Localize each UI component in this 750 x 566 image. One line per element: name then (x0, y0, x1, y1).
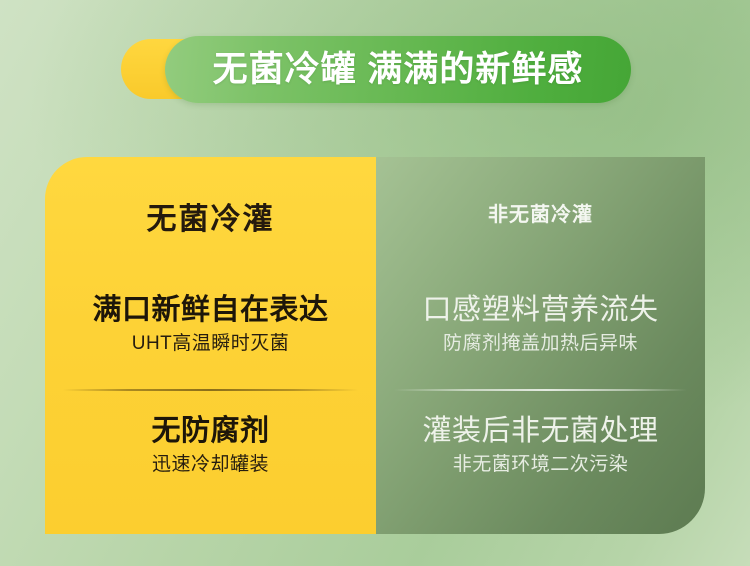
panel-non-aseptic-feature-2: 灌装后非无菌处理 非无菌环境二次污染 (376, 415, 705, 477)
panel-non-aseptic: 非无菌冷灌 口感塑料营养流失 防腐剂掩盖加热后异味 灌装后非无菌处理 非无菌环境… (376, 157, 705, 534)
header-banner: 无菌冷罐 满满的新鲜感 (0, 36, 750, 104)
panel-aseptic-feature-1: 满口新鲜自在表达 UHT高温瞬时灭菌 (45, 294, 376, 356)
promo-page: 无菌冷罐 满满的新鲜感 无菌冷灌 满口新鲜自在表达 UHT高温瞬时灭菌 无防腐剂… (0, 0, 750, 566)
panel-non-aseptic-feature-1: 口感塑料营养流失 防腐剂掩盖加热后异味 (376, 294, 705, 356)
panel-non-aseptic-heading: 非无菌冷灌 (488, 205, 593, 225)
panel-aseptic-heading: 无菌冷灌 (147, 205, 275, 235)
feature-sub-text: UHT高温瞬时灭菌 (45, 333, 376, 356)
feature-main-text: 灌装后非无菌处理 (376, 415, 705, 448)
feature-sub-text: 防腐剂掩盖加热后异味 (376, 333, 705, 356)
feature-main-text: 口感塑料营养流失 (376, 294, 705, 327)
comparison-card: 无菌冷灌 满口新鲜自在表达 UHT高温瞬时灭菌 无防腐剂 迅速冷却罐装 非无菌冷… (45, 157, 705, 534)
feature-sub-text: 迅速冷却罐装 (45, 454, 376, 477)
banner-title: 无菌冷罐 满满的新鲜感 (213, 52, 584, 87)
feature-main-text: 无防腐剂 (45, 415, 376, 448)
panel-aseptic: 无菌冷灌 满口新鲜自在表达 UHT高温瞬时灭菌 无防腐剂 迅速冷却罐装 (45, 157, 376, 534)
panel-aseptic-feature-2: 无防腐剂 迅速冷却罐装 (45, 415, 376, 477)
feature-main-text: 满口新鲜自在表达 (45, 294, 376, 327)
panel-non-aseptic-divider (394, 389, 687, 391)
feature-sub-text: 非无菌环境二次污染 (376, 454, 705, 477)
panel-aseptic-divider (63, 389, 358, 391)
banner-green-pill: 无菌冷罐 满满的新鲜感 (165, 36, 631, 103)
